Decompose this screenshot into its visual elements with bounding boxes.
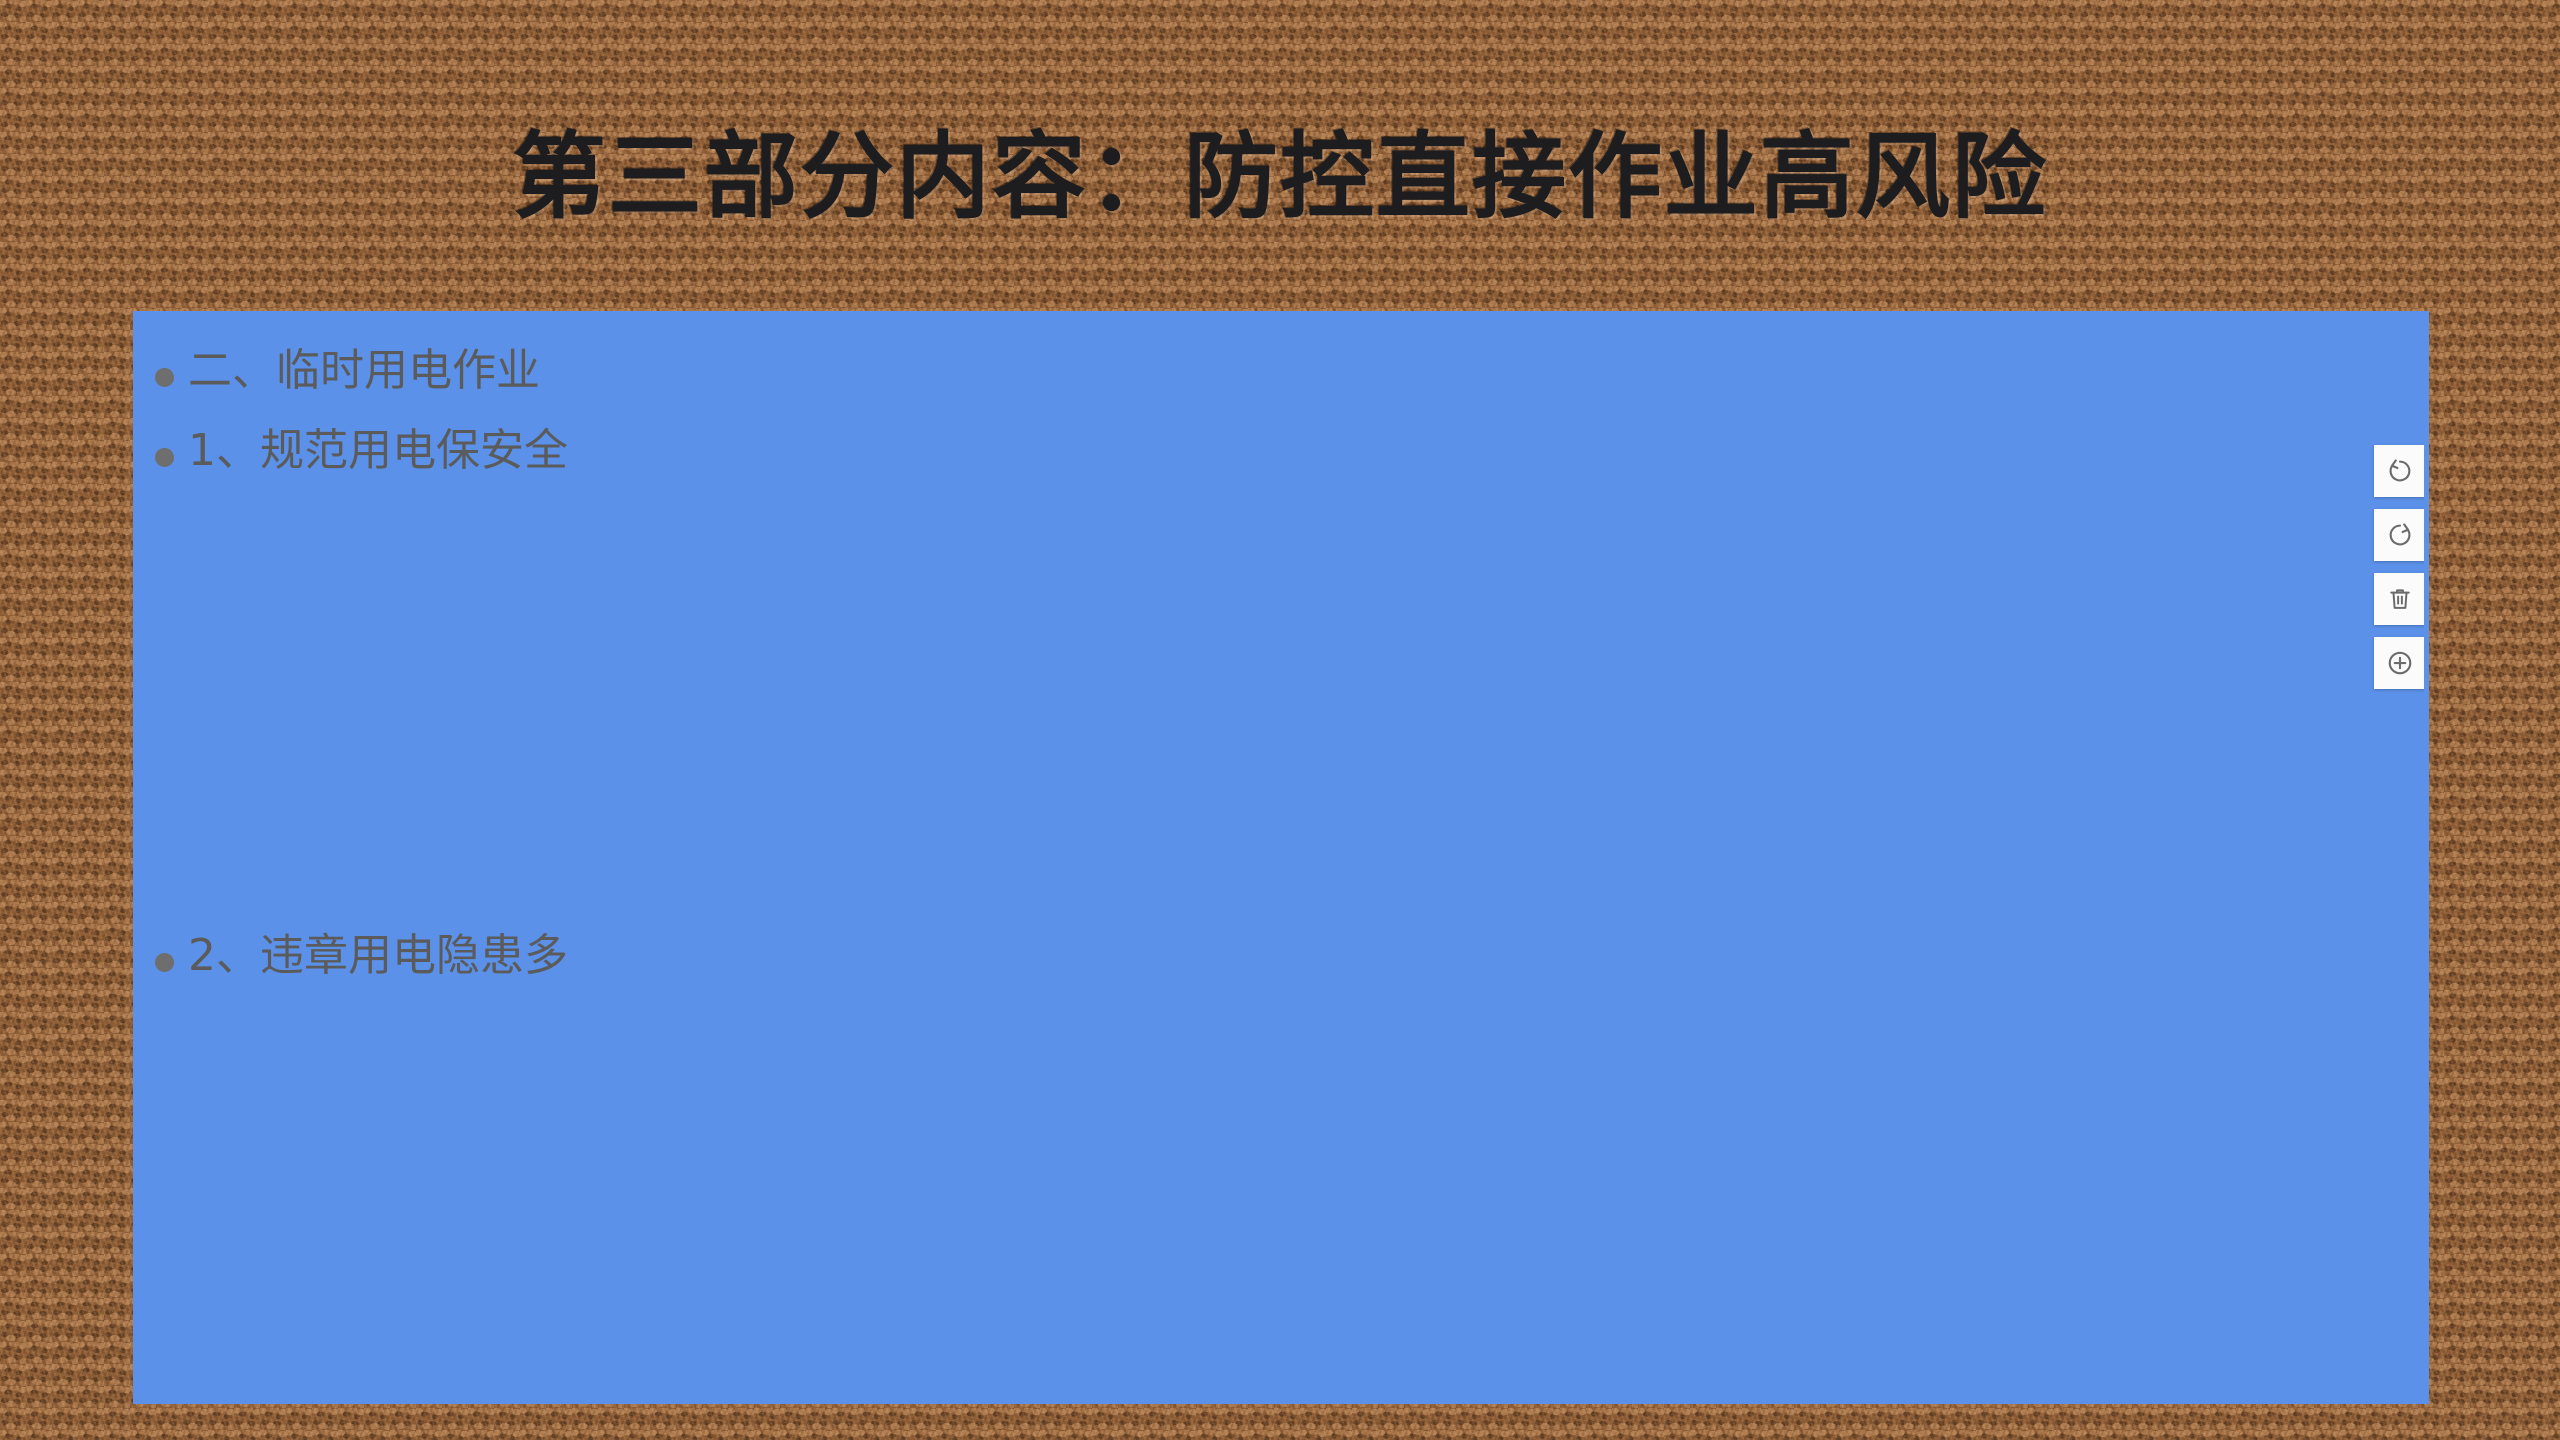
add-icon [2385, 648, 2415, 678]
bullet-marker-icon [155, 368, 174, 387]
rotate-right-icon [2385, 520, 2415, 550]
rotate-left-button[interactable] [2374, 445, 2426, 497]
delete-icon [2386, 585, 2414, 613]
add-button[interactable] [2374, 637, 2426, 689]
rotate-left-icon [2385, 456, 2415, 486]
content-panel: 二、临时用电作业 1、规范用电保安全 2、违章用电隐患多 [133, 311, 2429, 1404]
bullet-label-0: 二、临时用电作业 [188, 349, 540, 393]
bullet-item-1: 1、规范用电保安全 [155, 429, 568, 473]
bullet-marker-icon [155, 953, 174, 972]
bullet-item-0: 二、临时用电作业 [155, 349, 540, 393]
bullet-item-2: 2、违章用电隐患多 [155, 934, 568, 978]
bullet-label-2: 2、违章用电隐患多 [188, 934, 568, 978]
delete-button[interactable] [2374, 573, 2426, 625]
bullet-marker-icon [155, 448, 174, 467]
image-toolbar[interactable] [2374, 445, 2426, 689]
page-title: 第三部分内容：防控直接作业高风险 [0, 128, 2560, 228]
bullet-label-1: 1、规范用电保安全 [188, 429, 568, 473]
rotate-right-button[interactable] [2374, 509, 2426, 561]
